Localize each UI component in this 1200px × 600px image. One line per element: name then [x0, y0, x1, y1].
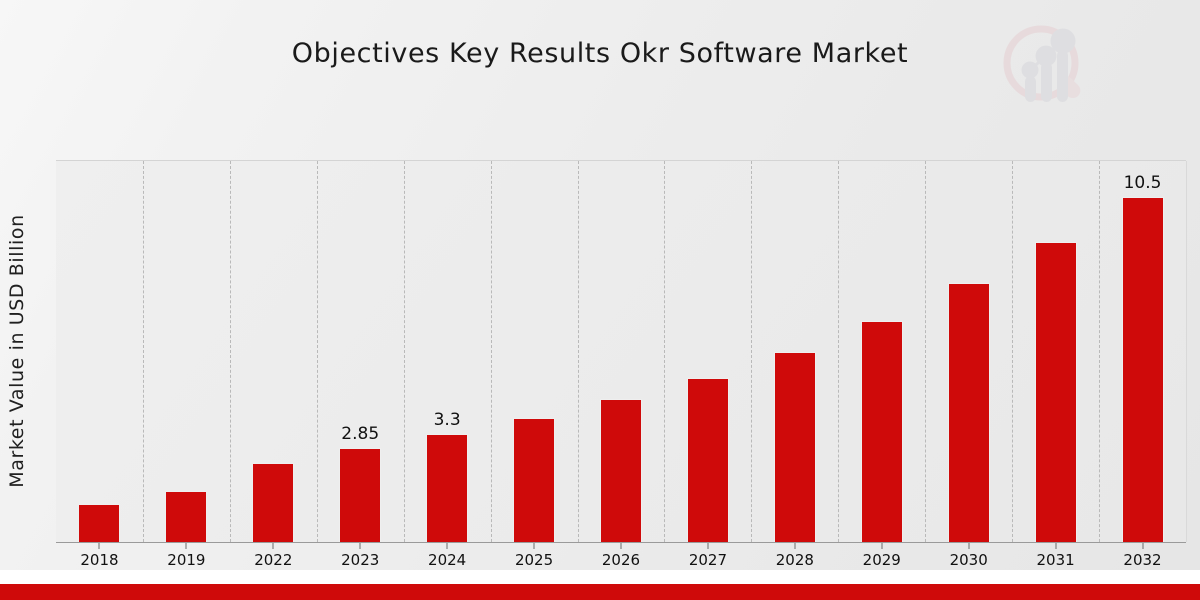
tick-mark — [1142, 543, 1143, 549]
tick-mark — [360, 543, 361, 549]
bar-group: 3.3 — [404, 161, 491, 542]
x-tick-label: 2028 — [776, 551, 814, 569]
bar-2025[interactable] — [513, 418, 555, 542]
bar-group: 2.85 — [317, 161, 404, 542]
tick-mark — [534, 543, 535, 549]
bar-group — [56, 161, 143, 542]
bar-value-label-2032: 10.5 — [1124, 173, 1162, 193]
x-tick-label: 2026 — [602, 551, 640, 569]
bar-group — [925, 161, 1012, 542]
y-axis-label-text: Market Value in USD Billion — [6, 214, 28, 488]
tick-mark — [620, 543, 621, 549]
bar-group — [751, 161, 838, 542]
x-tick-label: 2032 — [1123, 551, 1161, 569]
plot-area: 2.853.310.5 — [56, 160, 1186, 542]
bar-group — [664, 161, 751, 542]
tick-mark — [968, 543, 969, 549]
bar-group — [230, 161, 317, 542]
bar-group: 10.5 — [1099, 161, 1186, 542]
bar-group — [491, 161, 578, 542]
bar-2026[interactable] — [600, 399, 642, 542]
tick-mark — [273, 543, 274, 549]
x-tick-label: 2027 — [689, 551, 727, 569]
bar-2029[interactable] — [861, 321, 903, 542]
tick-mark — [1055, 543, 1056, 549]
tick-mark — [707, 543, 708, 549]
tick-mark — [99, 543, 100, 549]
brand-logo — [996, 18, 1092, 118]
tick-mark — [881, 543, 882, 549]
x-tick-label: 2029 — [863, 551, 901, 569]
bar-group — [578, 161, 665, 542]
y-axis-label: Market Value in USD Billion — [2, 160, 32, 542]
x-tick-label: 2019 — [167, 551, 205, 569]
bar-2022[interactable] — [252, 463, 294, 542]
bar-2027[interactable] — [687, 378, 729, 542]
bar-group — [1012, 161, 1099, 542]
tick-mark — [447, 543, 448, 549]
tick-mark — [186, 543, 187, 549]
bar-group — [143, 161, 230, 542]
bar-group — [838, 161, 925, 542]
footer-spacer — [0, 570, 1200, 584]
bar-2019[interactable] — [165, 491, 207, 542]
bar-2031[interactable] — [1035, 242, 1077, 542]
x-tick-label: 2018 — [80, 551, 118, 569]
bar-value-label-2023: 2.85 — [341, 424, 379, 444]
x-tick-label: 2024 — [428, 551, 466, 569]
footer-accent-bar — [0, 584, 1200, 600]
bar-2028[interactable] — [774, 352, 816, 543]
tick-mark — [794, 543, 795, 549]
bar-2018[interactable] — [78, 504, 120, 542]
x-tick-label: 2023 — [341, 551, 379, 569]
bar-2032[interactable] — [1122, 197, 1164, 542]
bar-2024[interactable] — [426, 434, 468, 542]
bar-2023[interactable] — [339, 448, 381, 542]
bar-value-label-2024: 3.3 — [434, 410, 461, 430]
x-tick-label: 2030 — [950, 551, 988, 569]
x-tick-label: 2022 — [254, 551, 292, 569]
bar-2030[interactable] — [948, 283, 990, 542]
x-tick-label: 2031 — [1037, 551, 1075, 569]
chart-figure: Objectives Key Results Okr Software Mark… — [0, 0, 1200, 600]
x-tick-label: 2025 — [515, 551, 553, 569]
